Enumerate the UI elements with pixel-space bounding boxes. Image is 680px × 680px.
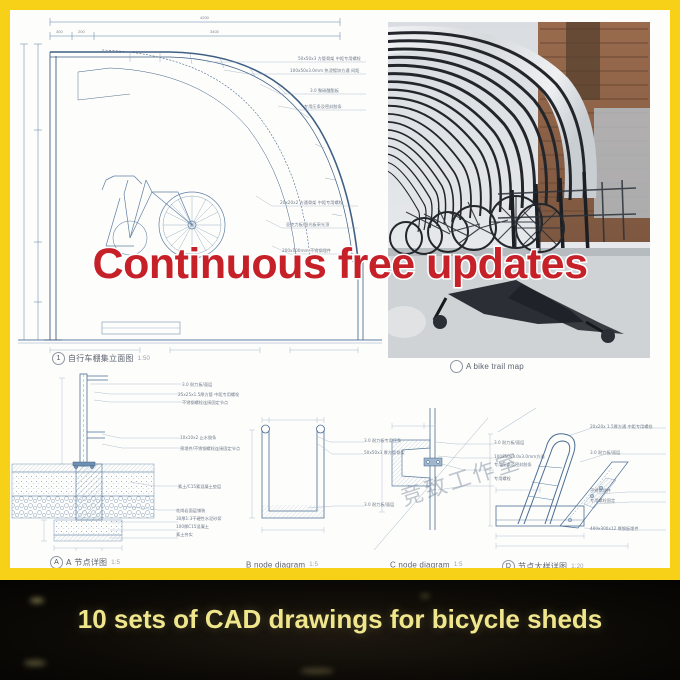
caption-label: C node diagram (390, 560, 450, 568)
dim-top-b: 200 (78, 29, 85, 34)
foundation-note-5: 预埋件/不锈钢螺栓连接固定节点 (180, 446, 240, 453)
elevation-note-4: 专用压条及密封胶条 (304, 104, 342, 111)
promo-headline: Continuous free updates (0, 240, 680, 289)
elevation-note-2: 100x50x3.0mm 热浸镀锌方通 间距 (290, 68, 359, 75)
screenshot-root: 50x50x3 方管骨架 中距专用螺栓 100x50x3.0mm 热浸镀锌方通 … (0, 0, 680, 680)
caption-b-node: B node diagram1:5 (246, 560, 318, 568)
drawing-b-node (238, 400, 368, 560)
bokeh-glow-2 (24, 660, 46, 666)
bokeh-glow-1 (30, 598, 44, 603)
caption-scale: 1:5 (111, 560, 120, 566)
caption-scale: 1:5 (309, 562, 318, 568)
d-node-note-4: 专用螺栓固定 (590, 498, 615, 505)
caption-scale: 1:20 (571, 564, 583, 569)
caption-foundation-detail: AA 节点详图1:5 (50, 556, 120, 568)
d-node-note-1: 20x20x 1.5厚方通 中距专用螺栓 (590, 424, 653, 431)
d-node-note-3: 不锈钢埋件 (590, 488, 611, 495)
dim-top-c: 3400 (210, 29, 219, 34)
caption-main-elevation: 1自行车棚集立面图1:50 (52, 352, 150, 365)
dim-top-total: 4200 (200, 15, 209, 20)
foundation-note-4: 10x10x2 止水胶条 (180, 435, 216, 442)
elevation-note-3: 3.0 聚碳酸酯板 (310, 88, 339, 95)
caption-photo: A bike trail map (450, 360, 524, 373)
elevation-note-5: 20x20x2 方通骨架 中距专用螺栓 (280, 200, 343, 207)
d-node-note-5: 400x300x12 厚钢板埋件 (590, 526, 639, 533)
caption-label: A bike trail map (466, 362, 524, 371)
cad-sheet: 50x50x3 方管骨架 中距专用螺栓 100x50x3.0mm 热浸镀锌方通 … (10, 10, 670, 568)
caption-number (450, 360, 463, 373)
foundation-note-8: 30厚1:3干硬性水泥砂浆 (176, 516, 222, 523)
foundation-note-1: 3.0 耐力板/面层 (182, 382, 212, 389)
foundation-note-2: 25x25x1.5厚方管 中距专用螺栓 (178, 392, 239, 399)
caption-d-node: D节点大样详图1:20 (502, 560, 584, 568)
foundation-note-9: 100厚C15混凝土 (176, 524, 209, 531)
caption-label: A 节点详图 (66, 558, 107, 567)
elevation-note-1: 50x50x3 方管骨架 中距专用螺栓 (298, 56, 361, 63)
foundation-note-10: 素土夯实 (176, 532, 193, 539)
elevation-note-6: 亚克力板/阳光板采光顶 (286, 222, 329, 229)
caption-number: 1 (52, 352, 65, 365)
bokeh-glow-3 (420, 594, 430, 598)
caption-number: D (502, 560, 515, 568)
foundation-note-6: 素土/C15素混凝土垫层 (178, 484, 221, 491)
caption-scale: 1:50 (138, 356, 150, 362)
promo-headline-text: Continuous free updates (93, 240, 588, 288)
caption-c-node: C node diagram1:5 (390, 560, 463, 568)
foundation-note-3: 不锈钢螺栓连接固定节点 (182, 400, 228, 407)
caption-label: 节点大样详图 (518, 562, 567, 568)
caption-label: B node diagram (246, 560, 305, 568)
bottom-caption-text: 10 sets of CAD drawings for bicycle shed… (0, 604, 680, 635)
foundation-note-7: 花岗岩面层铺装 (176, 508, 205, 515)
caption-label: 自行车棚集立面图 (68, 354, 134, 363)
yellow-frame: 50x50x3 方管骨架 中距专用螺栓 100x50x3.0mm 热浸镀锌方通 … (0, 0, 680, 580)
caption-scale: 1:5 (454, 562, 463, 568)
dim-top-a: 300 (56, 29, 63, 34)
shelter-photograph (388, 22, 650, 358)
d-node-note-2: 3.0 耐力板/面层 (590, 450, 620, 457)
caption-number: A (50, 556, 63, 568)
bokeh-glow-4 (300, 668, 334, 674)
